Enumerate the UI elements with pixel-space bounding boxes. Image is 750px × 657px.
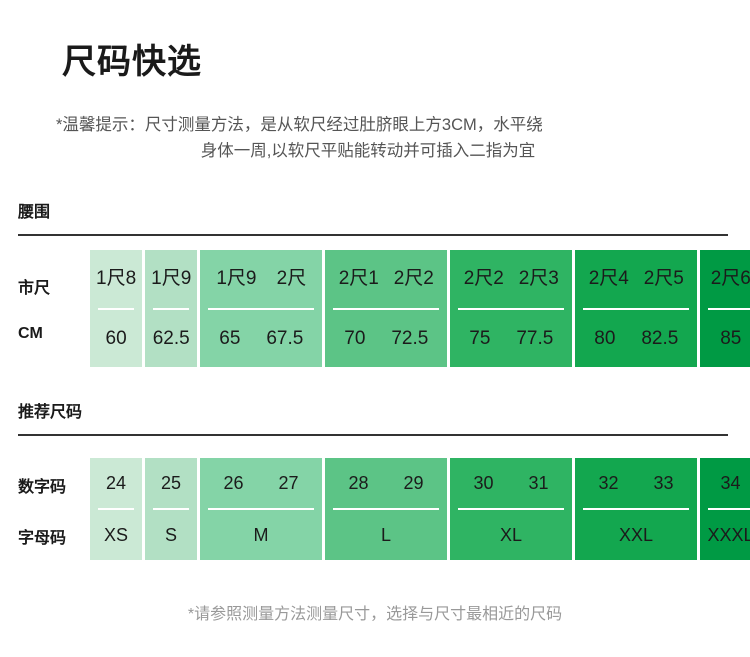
waist-row1-cells: 2尺12尺2 — [325, 250, 447, 308]
waist-row1-cells: 1尺92尺 — [200, 250, 322, 308]
waist-block: 2尺42尺58082.5 — [575, 250, 697, 367]
recommended-block: 34XXXL — [700, 458, 750, 560]
recommended-row2-cells: XL — [450, 510, 572, 560]
recommended-cell: S — [165, 526, 177, 544]
recommended-row2-cells: M — [200, 510, 322, 560]
recommended-row2-label: 字母码 — [18, 524, 66, 548]
waist-cell: 2尺3 — [519, 269, 559, 288]
waist-row2-cells: 8082.5 — [575, 310, 697, 368]
waist-cell: 72.5 — [391, 329, 428, 348]
waist-section-label: 腰围 — [18, 198, 50, 222]
waist-cell: 75 — [469, 329, 490, 348]
waist-block: 2尺12尺27072.5 — [325, 250, 447, 367]
waist-row2-cells: 7577.5 — [450, 310, 572, 368]
recommended-row2-cells: S — [145, 510, 197, 560]
waist-row1-cells: 2尺42尺5 — [575, 250, 697, 308]
waist-cell: 2尺1 — [339, 269, 379, 288]
footer-note: *请参照测量方法测量尺寸，选择与尺寸最相近的尺码 — [0, 600, 750, 624]
waist-cell: 1尺9 — [216, 269, 256, 288]
recommended-row1-cells: 3233 — [575, 458, 697, 508]
waist-cell: 1尺8 — [96, 269, 136, 288]
waist-row1-cells: 2尺22尺3 — [450, 250, 572, 308]
waist-cell: 70 — [344, 329, 365, 348]
waist-row2-cells: 60 — [90, 310, 142, 368]
waist-cell: 2尺2 — [394, 269, 434, 288]
recommended-row1-label: 数字码 — [18, 473, 66, 497]
recommended-cell: XXXL — [707, 526, 750, 544]
recommended-cell: M — [254, 526, 269, 544]
waist-row1-cells: 2尺6 — [700, 250, 750, 308]
recommended-cell: 32 — [598, 474, 618, 492]
waist-blocks-strip: 1尺8601尺962.51尺92尺6567.52尺12尺27072.52尺22尺… — [90, 250, 728, 367]
recommended-row1-cells: 34 — [700, 458, 750, 508]
measurement-tip: *温馨提示：尺寸测量方法，是从软尺经过肚脐眼上方3CM，水平绕 身体一周,以软尺… — [52, 112, 712, 164]
page-title: 尺码快选 — [62, 42, 202, 83]
recommended-row2-cells: L — [325, 510, 447, 560]
recommended-row1-cells: 3031 — [450, 458, 572, 508]
recommended-section-label: 推荐尺码 — [18, 398, 82, 422]
waist-cell: 67.5 — [266, 329, 303, 348]
tip-line-1: *温馨提示：尺寸测量方法，是从软尺经过肚脐眼上方3CM，水平绕 — [52, 112, 712, 138]
waist-cell: 82.5 — [641, 329, 678, 348]
recommended-row1-cells: 2627 — [200, 458, 322, 508]
waist-section-divider — [18, 234, 728, 236]
recommended-cell: 31 — [528, 474, 548, 492]
waist-row2-cells: 85 — [700, 310, 750, 368]
waist-cell: 60 — [106, 329, 127, 348]
waist-cell: 62.5 — [153, 329, 190, 348]
waist-cell: 2尺 — [277, 269, 307, 288]
recommended-cell: 33 — [653, 474, 673, 492]
recommended-cell: L — [381, 526, 391, 544]
recommended-block: 24XS — [90, 458, 142, 560]
waist-block: 1尺860 — [90, 250, 142, 367]
recommended-row1-cells: 24 — [90, 458, 142, 508]
recommended-section-divider — [18, 434, 728, 436]
recommended-block: 25S — [145, 458, 197, 560]
recommended-cell: 26 — [223, 474, 243, 492]
recommended-block: 2627M — [200, 458, 322, 560]
recommended-block: 3031XL — [450, 458, 572, 560]
recommended-cell: 27 — [278, 474, 298, 492]
waist-row1-label: 市尺 — [18, 274, 50, 298]
recommended-cell: XXL — [619, 526, 653, 544]
waist-cell: 2尺5 — [644, 269, 684, 288]
waist-cell: 2尺4 — [589, 269, 629, 288]
recommended-cell: 24 — [106, 474, 126, 492]
recommended-block: 2829L — [325, 458, 447, 560]
waist-row1-cells: 1尺8 — [90, 250, 142, 308]
recommended-cell: 28 — [348, 474, 368, 492]
tip-line-2: 身体一周,以软尺平贴能转动并可插入二指为宜 — [52, 138, 712, 164]
waist-cell: 2尺6 — [711, 269, 750, 288]
recommended-blocks-strip: 24XS25S2627M2829L3031XL3233XXL34XXXL — [90, 458, 728, 560]
recommended-cell: 30 — [473, 474, 493, 492]
recommended-row1-cells: 25 — [145, 458, 197, 508]
waist-row1-cells: 1尺9 — [145, 250, 197, 308]
waist-row2-label: CM — [18, 325, 43, 343]
recommended-cell: 25 — [161, 474, 181, 492]
waist-cell: 80 — [594, 329, 615, 348]
recommended-row1-cells: 2829 — [325, 458, 447, 508]
waist-cell: 1尺9 — [151, 269, 191, 288]
recommended-cell: 29 — [403, 474, 423, 492]
waist-block: 2尺685 — [700, 250, 750, 367]
waist-block: 2尺22尺37577.5 — [450, 250, 572, 367]
waist-cell: 65 — [219, 329, 240, 348]
recommended-block: 3233XXL — [575, 458, 697, 560]
recommended-row2-cells: XXXL — [700, 510, 750, 560]
waist-row2-cells: 7072.5 — [325, 310, 447, 368]
waist-row2-cells: 62.5 — [145, 310, 197, 368]
recommended-cell: 34 — [720, 474, 740, 492]
waist-row2-cells: 6567.5 — [200, 310, 322, 368]
waist-block: 1尺92尺6567.5 — [200, 250, 322, 367]
waist-block: 1尺962.5 — [145, 250, 197, 367]
recommended-cell: XL — [500, 526, 522, 544]
waist-cell: 77.5 — [516, 329, 553, 348]
recommended-row2-cells: XS — [90, 510, 142, 560]
waist-cell: 2尺2 — [464, 269, 504, 288]
recommended-row2-cells: XXL — [575, 510, 697, 560]
recommended-cell: XS — [104, 526, 128, 544]
size-chart-page: 尺码快选 *温馨提示：尺寸测量方法，是从软尺经过肚脐眼上方3CM，水平绕 身体一… — [0, 0, 750, 657]
waist-cell: 85 — [720, 329, 741, 348]
